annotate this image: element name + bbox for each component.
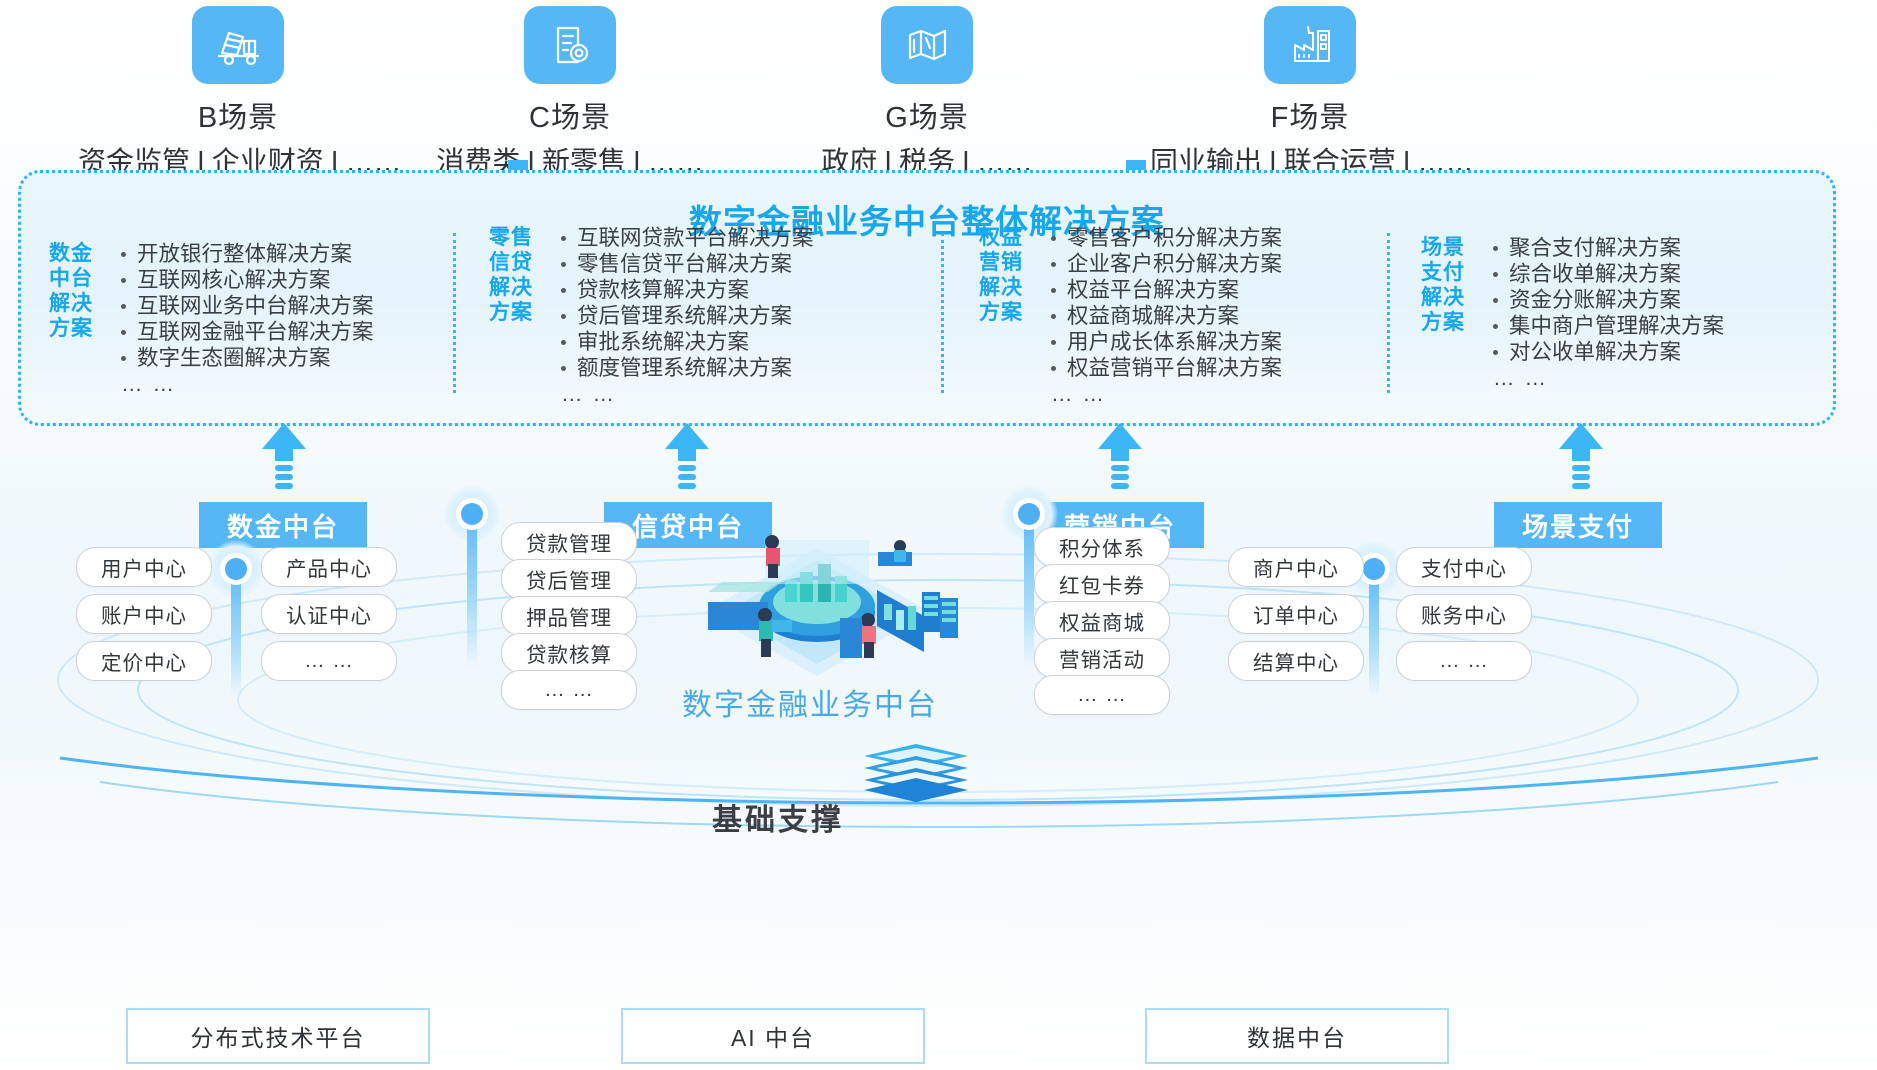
capability-pill[interactable]: … … [501,670,637,710]
capability-pill[interactable]: 红包卡券 [1034,564,1170,604]
document-check-icon [524,6,616,84]
capability-pill[interactable]: … … [1034,675,1170,715]
solution-item-list: 互联网贷款平台解决方案 零售信贷平台解决方案 贷款核算解决方案 贷后管理系统解决… [557,225,814,407]
pin-shujin [207,540,265,598]
solution-column-credit: 零售 信贷 解决 方案 互联网贷款平台解决方案 零售信贷平台解决方案 贷款核算解… [489,225,814,407]
capability-pill[interactable]: 账务中心 [1396,594,1532,634]
capability-pill[interactable]: 产品中心 [261,547,397,587]
scenario-card-f[interactable]: F场景 同业输出 l 联合运营 l …… [1150,6,1470,180]
solution-panel: 数字金融业务中台整体解决方案 数金 中台 解决 方案 开放银行整体解决方案 互联… [18,170,1836,426]
base-platform-box[interactable]: 数据中台 [1145,1008,1449,1064]
scenario-card-b[interactable]: B场景 资金监管 l 企业财资 l …… [78,6,398,180]
capability-pill[interactable]: 商户中心 [1228,547,1364,587]
capability-pill[interactable]: 定价中心 [76,641,212,681]
foundation-label: 基础支撑 [628,795,928,839]
scenario-title: G场景 [767,94,1087,136]
list-item: 额度管理系统解决方案 [557,355,814,381]
list-item: 互联网贷款平台解决方案 [557,225,814,251]
list-item-more: … … [1489,365,1724,391]
solution-item-list: 开放银行整体解决方案 互联网核心解决方案 互联网业务中台解决方案 互联网金融平台… [117,241,374,397]
capability-pill[interactable]: 认证中心 [261,594,397,634]
solution-column-tag: 场景 支付 解决 方案 [1421,235,1479,335]
scenario-card-g[interactable]: G场景 政府 l 税务 l …… [767,6,1087,180]
scenario-card-c[interactable]: C场景 消费类 l 新零售 l …… [410,6,730,180]
solution-column-rights: 权益 营销 解决 方案 零售客户积分解决方案 企业客户积分解决方案 权益平台解决… [979,225,1282,407]
list-item: 权益商城解决方案 [1047,303,1282,329]
solution-column-tag: 数金 中台 解决 方案 [49,241,107,341]
capability-pill[interactable]: 支付中心 [1396,547,1532,587]
list-item: 零售信贷平台解决方案 [557,251,814,277]
factory-icon [1264,6,1356,84]
scenario-title: B场景 [78,94,398,136]
list-item: 开放银行整体解决方案 [117,241,374,267]
up-arrow-pay [1558,423,1604,501]
capability-pill[interactable]: 贷款核算 [501,633,637,673]
capability-pill[interactable]: 用户中心 [76,547,212,587]
list-item-more: … … [117,371,374,397]
list-item: 数字生态圈解决方案 [117,345,374,371]
list-item-more: … … [1047,381,1282,407]
capability-pill[interactable]: 贷后管理 [501,559,637,599]
list-item: 互联网业务中台解决方案 [117,293,374,319]
list-item: 贷后管理系统解决方案 [557,303,814,329]
list-item: 互联网核心解决方案 [117,267,374,293]
list-item: 集中商户管理解决方案 [1489,313,1724,339]
capability-pill[interactable]: … … [1396,641,1532,681]
solution-column-pay: 场景 支付 解决 方案 聚合支付解决方案 综合收单解决方案 资金分账解决方案 集… [1421,235,1724,391]
up-arrow-credit [664,423,710,501]
solution-column-tag: 零售 信贷 解决 方案 [489,225,547,325]
solution-column-tag: 权益 营销 解决 方案 [979,225,1037,325]
capability-pill[interactable]: 权益商城 [1034,601,1170,641]
stage-caption: 数字金融业务中台 [660,680,960,724]
column-divider [1387,233,1390,393]
capability-pill[interactable]: 押品管理 [501,596,637,636]
list-item: 贷款核算解决方案 [557,277,814,303]
list-item: 零售客户积分解决方案 [1047,225,1282,251]
pin-credit [443,485,501,543]
list-item: 综合收单解决方案 [1489,261,1724,287]
column-divider [941,233,944,393]
list-item: 用户成长体系解决方案 [1047,329,1282,355]
solution-column-shujin: 数金 中台 解决 方案 开放银行整体解决方案 互联网核心解决方案 互联网业务中台… [49,241,374,397]
list-item: 权益营销平台解决方案 [1047,355,1282,381]
capability-pill[interactable]: 营销活动 [1034,638,1170,678]
solution-item-list: 零售客户积分解决方案 企业客户积分解决方案 权益平台解决方案 权益商城解决方案 … [1047,225,1282,407]
base-platform-box[interactable]: 分布式技术平台 [126,1008,430,1064]
list-item-more: … … [557,381,814,407]
list-item: 审批系统解决方案 [557,329,814,355]
list-item: 企业客户积分解决方案 [1047,251,1282,277]
capability-pill[interactable]: 积分体系 [1034,527,1170,567]
truck-cargo-icon [192,6,284,84]
list-item: 互联网金融平台解决方案 [117,319,374,345]
list-item: 资金分账解决方案 [1489,287,1724,313]
scenario-title: F场景 [1150,94,1470,136]
map-fold-icon [881,6,973,84]
list-item: 聚合支付解决方案 [1489,235,1724,261]
up-arrow-marketing [1097,423,1143,501]
capability-pill[interactable]: 订单中心 [1228,594,1364,634]
solution-item-list: 聚合支付解决方案 综合收单解决方案 资金分账解决方案 集中商户管理解决方案 对公… [1489,235,1724,391]
capability-pill[interactable]: … … [261,641,397,681]
up-arrow-shujin [261,423,307,501]
list-item: 对公收单解决方案 [1489,339,1724,365]
capability-pill[interactable]: 结算中心 [1228,641,1364,681]
scenario-title: C场景 [410,94,730,136]
capability-pill[interactable]: 贷款管理 [501,522,637,562]
capability-pill[interactable]: 账户中心 [76,594,212,634]
base-platform-box[interactable]: AI 中台 [621,1008,925,1064]
list-item: 权益平台解决方案 [1047,277,1282,303]
column-divider [453,233,456,393]
